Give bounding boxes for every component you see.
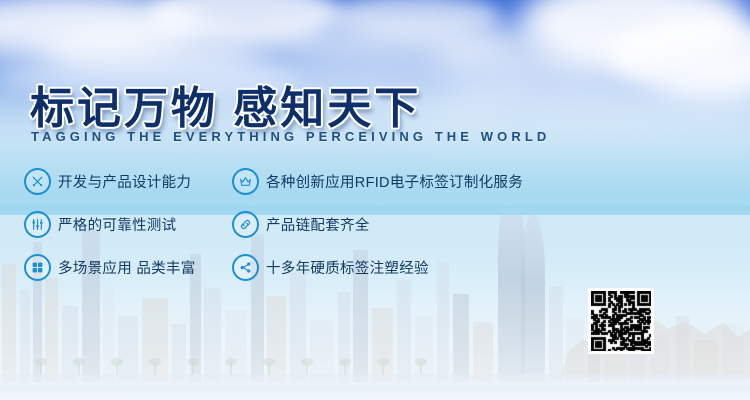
feature-item-rfid-custom: 各种创新应用RFID电子标签订制化服务 — [232, 168, 584, 195]
feature-item-supply-chain: 产品链配套齐全 — [232, 211, 584, 238]
feature-label: 开发与产品设计能力 — [58, 171, 191, 192]
crossed-tools-icon — [24, 168, 51, 195]
feature-list: 开发与产品设计能力 各种创新应用RFID电子标签订制化服务 — [24, 168, 584, 297]
grid-squares-icon — [24, 254, 51, 281]
feature-item-reliability-test: 严格的可靠性测试 — [24, 211, 232, 238]
page-subtitle: TAGGING THE EVERYTHING PERCEIVING THE WO… — [31, 129, 550, 144]
feature-row: 严格的可靠性测试 产品链配套齐全 — [24, 211, 584, 238]
link-icon — [232, 211, 259, 238]
feature-label: 产品链配套齐全 — [266, 214, 370, 235]
feature-label: 各种创新应用RFID电子标签订制化服务 — [266, 171, 523, 192]
feature-label: 多场景应用 品类丰富 — [58, 257, 196, 278]
feature-row: 开发与产品设计能力 各种创新应用RFID电子标签订制化服务 — [24, 168, 584, 195]
share-nodes-icon — [232, 254, 259, 281]
feature-item-experience: 十多年硬质标签注塑经验 — [232, 254, 584, 281]
feature-label: 严格的可靠性测试 — [58, 214, 176, 235]
crown-icon — [232, 168, 259, 195]
feature-item-development: 开发与产品设计能力 — [24, 168, 232, 195]
qr-code[interactable] — [588, 288, 654, 354]
feature-item-multi-scenario: 多场景应用 品类丰富 — [24, 254, 232, 281]
sliders-icon — [24, 211, 51, 238]
qr-code-canvas — [591, 291, 651, 351]
promo-banner: 标记万物 感知天下 TAGGING THE EVERYTHING PERCEIV… — [0, 0, 750, 400]
feature-row: 多场景应用 品类丰富 十多年硬质标签注塑经验 — [24, 254, 584, 281]
page-title: 标记万物 感知天下 — [30, 72, 421, 136]
feature-label: 十多年硬质标签注塑经验 — [266, 257, 429, 278]
